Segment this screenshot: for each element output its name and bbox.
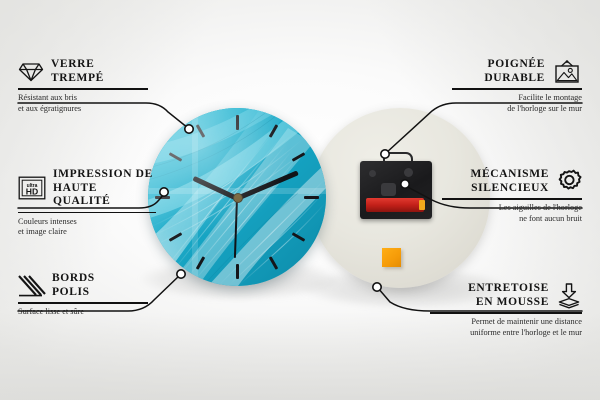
callout-title-line1: VERRE [51, 58, 104, 72]
foam-spacer [382, 248, 401, 267]
callout-desc-line2: de l'horloge sur le mur [452, 104, 582, 115]
callout-title-line2: HAUTE QUALITÉ [53, 182, 156, 209]
callout-title-line2: SILENCIEUX [470, 182, 549, 196]
callout-desc-line1: Surface lisse et sûre [18, 307, 148, 318]
clock-tick [236, 115, 239, 130]
hanging-picture-frame-icon [552, 60, 582, 84]
callout-desc-line1: Permet de maintenir une distance [430, 317, 582, 328]
diagonal-stripes-icon [18, 275, 45, 297]
callout-header: BORDS POLIS [18, 272, 148, 299]
infographic-canvas: VERRE TREMPÉ Résistant aux bris et aux é… [0, 0, 600, 400]
mechanism-screw-icon [404, 168, 413, 177]
clock-center-hub [233, 193, 243, 203]
callout-desc-line2: et image claire [18, 227, 156, 238]
callout-header: MÉCANISME SILENCIEUX [442, 168, 582, 195]
callout-header: ultra HD IMPRESSION DE HAUTE QUALITÉ [18, 168, 156, 209]
callout-header: VERRE TREMPÉ [18, 58, 148, 85]
callout-desc-line2: ne font aucun bruit [442, 214, 582, 225]
clock-tick [304, 196, 319, 199]
callout-title-line2: EN MOUSSE [468, 296, 549, 310]
callout-desc-line1: Facilite le montage [452, 93, 582, 104]
callout-header: ENTRETOISE EN MOUSSE [430, 282, 582, 309]
callout-title-line1: IMPRESSION DE [53, 168, 156, 182]
hd-badge-big-label: HD [26, 187, 38, 197]
callout-desc-line2: uniforme entre l'horloge et le mur [430, 328, 582, 339]
clock-tick [236, 264, 239, 279]
callout-rule [18, 212, 156, 214]
clock-mechanism [360, 161, 432, 219]
callout-verre-trempe[interactable]: VERRE TREMPÉ Résistant aux bris et aux é… [18, 58, 148, 114]
callout-entretoise-mousse[interactable]: ENTRETOISE EN MOUSSE Permet de maintenir… [430, 282, 582, 338]
callout-title-line1: POIGNÉE [484, 58, 545, 72]
callout-rule [430, 312, 582, 314]
callout-rule [452, 88, 582, 90]
callout-title-line1: ENTRETOISE [468, 282, 549, 296]
callout-title-line2: POLIS [52, 286, 95, 300]
callout-mecanisme-silencieux[interactable]: MÉCANISME SILENCIEUX Les aiguilles de l'… [442, 168, 582, 224]
gear-icon [556, 169, 582, 194]
callout-header: POIGNÉE DURABLE [452, 58, 582, 85]
callout-rule [18, 302, 148, 304]
callout-desc-line1: Résistant aux bris [18, 93, 148, 104]
battery-positive-terminal-icon [419, 200, 425, 210]
callout-poignee-durable[interactable]: POIGNÉE DURABLE Facilite le montage de l… [452, 58, 582, 114]
mechanism-shaft-icon [381, 183, 396, 196]
clock-tick [155, 196, 170, 199]
callout-desc-line2: et aux égratignures [18, 104, 148, 115]
callout-bords-polis[interactable]: BORDS POLIS Surface lisse et sûre [18, 272, 148, 318]
ultra-hd-badge-icon: ultra HD [18, 176, 46, 200]
diamond-icon [18, 61, 44, 83]
callout-title-line1: BORDS [52, 272, 95, 286]
mechanism-battery [366, 198, 424, 212]
callout-rule [18, 88, 148, 90]
callout-impression-hd[interactable]: ultra HD IMPRESSION DE HAUTE QUALITÉ Cou… [18, 168, 156, 238]
callout-title-line1: MÉCANISME [470, 168, 549, 182]
mechanism-screw-icon [369, 170, 376, 177]
clock-front-face [148, 108, 326, 286]
callout-rule [442, 198, 582, 200]
arrow-down-onto-layers-icon [556, 283, 582, 309]
callout-desc-line1: Les aiguilles de l'horloge [442, 203, 582, 214]
callout-title-line2: TREMPÉ [51, 72, 104, 86]
callout-title-line2: DURABLE [484, 72, 545, 86]
callout-desc-line1: Couleurs intenses [18, 217, 156, 228]
